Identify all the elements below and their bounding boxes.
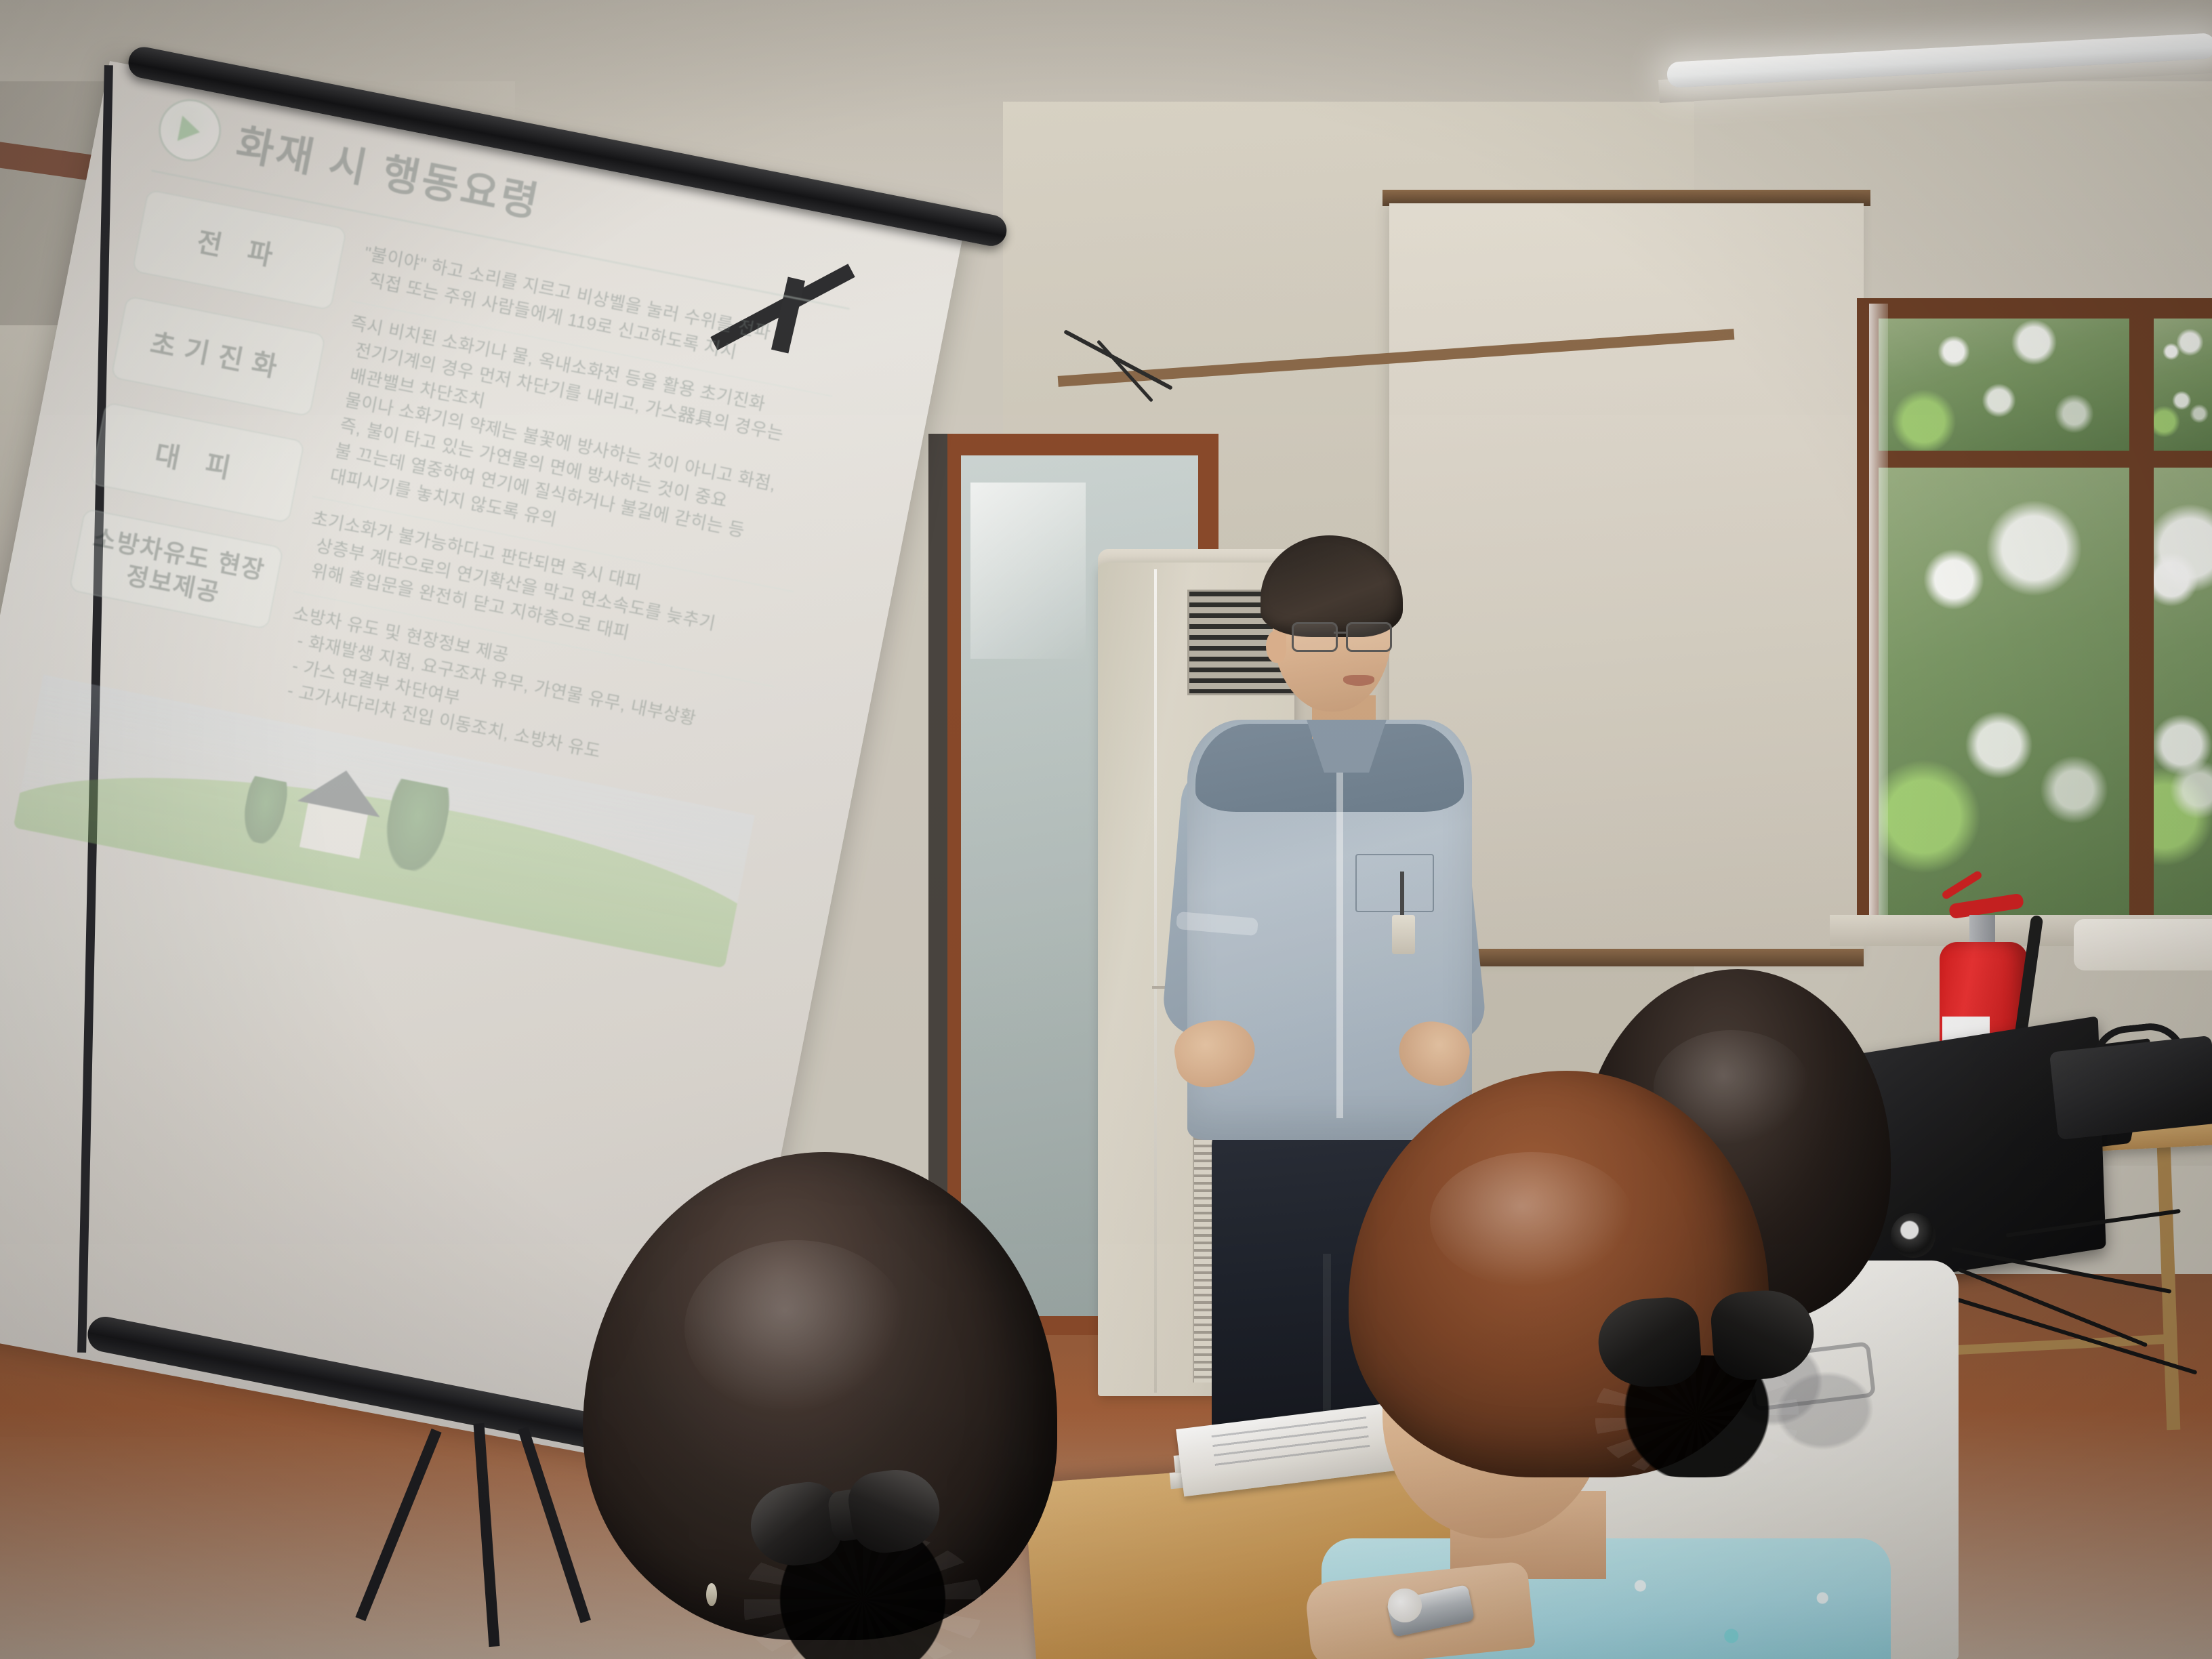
badge-lanyard: [1400, 872, 1404, 919]
slide-label-chip: 전 파: [131, 189, 347, 311]
bow-wing: [845, 1465, 945, 1557]
slide-label-chip: 소방차유도 현장정보제공: [68, 508, 284, 630]
hair-highlight: [684, 1240, 908, 1416]
presenter-ear: [1266, 630, 1286, 663]
window-pane: [2154, 468, 2212, 915]
carry-bag[interactable]: [2049, 1036, 2212, 1140]
bow-wing: [1709, 1288, 1817, 1382]
eyeglasses-icon: [1292, 622, 1397, 651]
hair-highlight: [1430, 1152, 1633, 1288]
classroom-scene: 화재 시 행동요령 전 파 초기진화 대 피 소방차유도 현장정보제공 "불이야…: [0, 0, 2212, 1659]
hair-bow-icon: [1595, 1287, 1826, 1418]
projected-slide: 화재 시 행동요령 전 파 초기진화 대 피 소방차유도 현장정보제공 "불이야…: [0, 78, 887, 989]
window-pane: [2154, 319, 2212, 451]
attendee-center: [1308, 1071, 1904, 1659]
bow-wing: [1595, 1295, 1703, 1390]
id-badge: [1392, 915, 1415, 954]
presenter-mouth: [1343, 675, 1374, 686]
lens-right: [1346, 622, 1392, 652]
earring-icon: [706, 1583, 717, 1606]
attendee-left: [583, 1152, 1098, 1659]
slide-label-chip: 초기진화: [110, 295, 326, 417]
glasses-bridge: [1334, 632, 1347, 634]
shirt-placket: [1336, 766, 1343, 1118]
green-arrow-circle-icon: [153, 94, 226, 167]
lens-left: [1292, 622, 1338, 652]
window-shade[interactable]: [1869, 304, 1888, 934]
slide-text-column: "불이야" 하고 소리를 지르고 비상벨을 눌러 수위를 전파 직접 또는 주위…: [270, 232, 846, 806]
white-cloth: [2074, 919, 2212, 970]
slide-label-chip: 대 피: [89, 402, 305, 524]
window-pane: [1879, 468, 2129, 915]
shirt-pocket: [1355, 854, 1434, 912]
window-pane: [1879, 319, 2129, 451]
